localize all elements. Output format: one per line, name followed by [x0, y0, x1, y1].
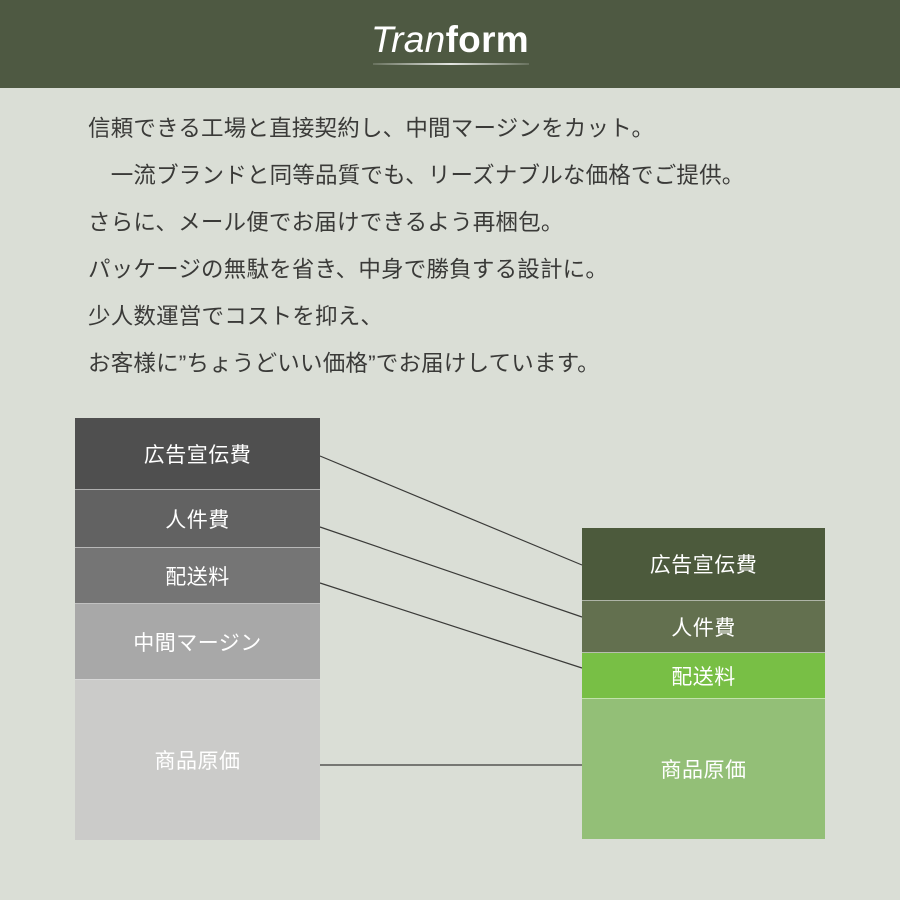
connector-line-2 [320, 583, 582, 668]
after-bar-label: 広告宣伝費 [650, 549, 758, 579]
before-bar-1: 人件費 [75, 490, 320, 548]
before-bar-label: 人件費 [165, 504, 230, 534]
brand-logo-light: Tran [371, 19, 446, 60]
brand-logo: Tranform [371, 21, 529, 67]
page-header: Tranform [0, 0, 900, 88]
copy-line: 一流ブランドと同等品質でも、リーズナブルな価格でご提供。 [88, 152, 848, 199]
copy-line: 少人数運営でコストを抑え、 [88, 293, 848, 340]
promo-page: Tranform 信頼できる工場と直接契約し、中間マージンをカット。 一流ブラン… [0, 0, 900, 900]
copy-line: さらに、メール便でお届けできるよう再梱包。 [88, 199, 848, 246]
before-bar-label: 広告宣伝費 [144, 439, 252, 469]
connector-line-0 [320, 456, 582, 565]
before-bar-label: 中間マージン [133, 627, 262, 657]
before-bar-4: 商品原価 [75, 680, 320, 840]
after-bar-3: 商品原価 [582, 699, 825, 839]
brand-logo-underline [373, 63, 529, 65]
after-bar-label: 商品原価 [661, 754, 747, 784]
after-bar-label: 人件費 [671, 612, 736, 642]
cost-column-before: 広告宣伝費人件費配送料中間マージン商品原価 [75, 418, 320, 840]
after-bar-label: 配送料 [671, 661, 736, 691]
copy-line: 信頼できる工場と直接契約し、中間マージンをカット。 [88, 105, 848, 152]
connector-line-1 [320, 527, 582, 617]
cost-column-after: 広告宣伝費人件費配送料商品原価 [582, 528, 825, 839]
after-bar-2: 配送料 [582, 653, 825, 699]
before-bar-label: 商品原価 [155, 745, 241, 775]
after-bar-1: 人件費 [582, 601, 825, 653]
before-bar-3: 中間マージン [75, 604, 320, 680]
before-bar-0: 広告宣伝費 [75, 418, 320, 490]
brand-logo-bold: form [446, 19, 529, 60]
copy-line: お客様に”ちょうどいい価格”でお届けしています。 [88, 340, 848, 387]
after-bar-0: 広告宣伝費 [582, 528, 825, 601]
copy-line: パッケージの無駄を省き、中身で勝負する設計に。 [88, 246, 848, 293]
before-bar-label: 配送料 [165, 561, 230, 591]
before-bar-2: 配送料 [75, 548, 320, 604]
marketing-copy: 信頼できる工場と直接契約し、中間マージンをカット。 一流ブランドと同等品質でも、… [88, 105, 848, 387]
